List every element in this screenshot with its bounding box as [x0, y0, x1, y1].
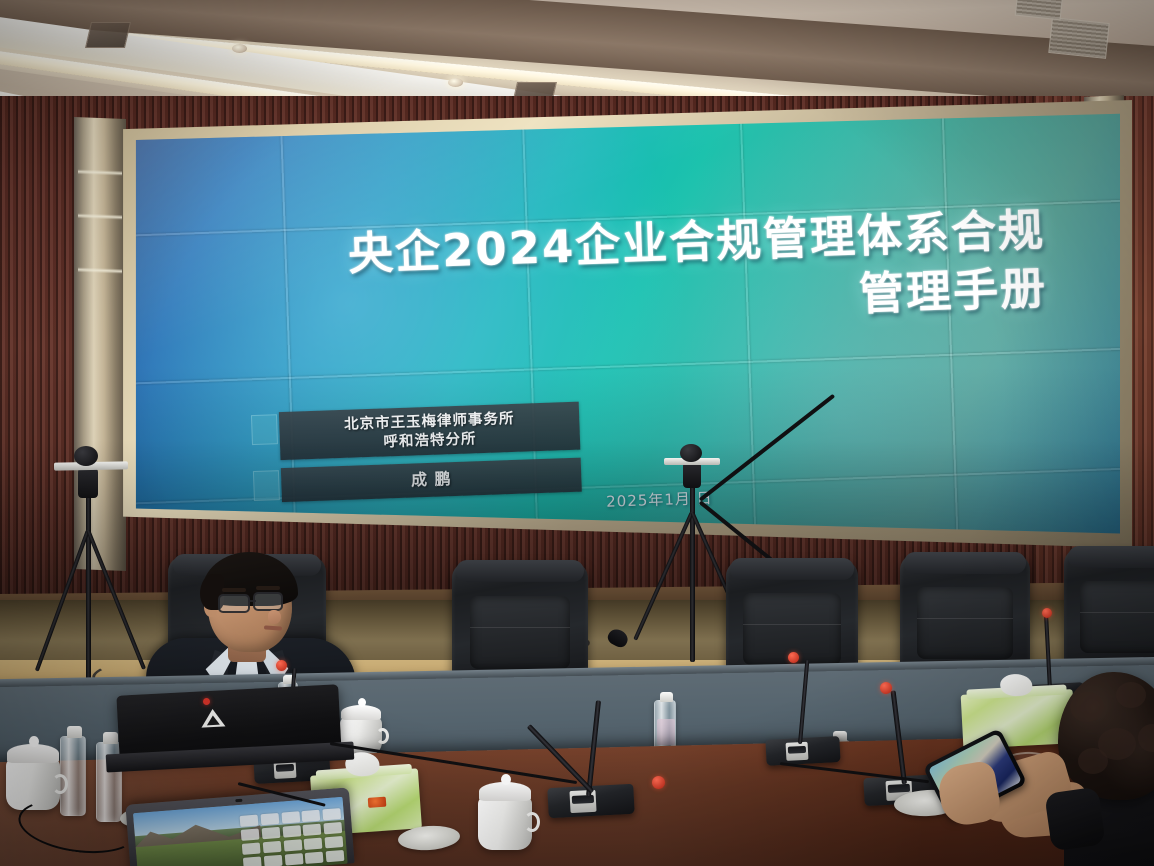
tissue-sheet	[1000, 673, 1033, 697]
desktop-icon[interactable]	[303, 823, 322, 836]
laptop-brand-logo	[197, 705, 228, 731]
desktop-icon[interactable]	[302, 809, 321, 822]
eyeglasses-lens-right	[253, 592, 283, 611]
laptop-webcam	[235, 799, 242, 803]
desktop-icon[interactable]	[263, 841, 282, 854]
mic-indicator-led	[880, 682, 892, 694]
desktop-icon[interactable]	[323, 822, 342, 835]
desktop-icon[interactable]	[241, 828, 260, 841]
desktop-icon[interactable]	[260, 813, 279, 826]
mic-indicator-led	[276, 660, 287, 671]
ceiling-grille	[1015, 0, 1063, 20]
attendee-sleeve	[1044, 787, 1106, 852]
conference-room-photo: 央企2024企业合规管理体系合规 管理手册 北京市王玉梅律师事务所 呼和浩特分所…	[0, 0, 1154, 866]
presenter-nose	[268, 610, 281, 624]
mic-indicator-led	[652, 776, 665, 789]
desktop-icon[interactable]	[283, 839, 302, 852]
eyeglasses-bridge	[248, 600, 256, 602]
camera-on-tripod-left	[74, 446, 98, 466]
laptop-power-led	[203, 698, 210, 705]
desktop-icon[interactable]	[242, 842, 261, 855]
ceiling-spotlight	[232, 44, 247, 53]
camera-on-tripod-center	[680, 444, 702, 462]
slide-title: 央企2024企业合规管理体系合规 管理手册	[214, 201, 1048, 345]
desktop-icon[interactable]	[240, 814, 259, 827]
desktop-icon[interactable]	[304, 837, 323, 850]
presenter-eyebrow-right	[256, 586, 280, 590]
teacup-3[interactable]	[478, 796, 532, 850]
ceiling-spotlight	[448, 78, 463, 87]
presenter-eyebrow-left	[222, 588, 246, 592]
ceiling-grille	[1048, 17, 1109, 59]
tripod-head-center	[683, 462, 701, 488]
eyeglasses-lens-left	[218, 594, 250, 613]
desktop-icon[interactable]	[282, 825, 301, 838]
attendee-hair	[1058, 672, 1154, 800]
ceiling-vent	[85, 22, 131, 48]
tripod-head-left	[78, 468, 98, 498]
attendee-with-phone	[1040, 672, 1154, 866]
tissue-box-logo	[368, 797, 387, 808]
desktop-icon[interactable]	[281, 811, 300, 824]
desktop-icon-grid[interactable]	[240, 808, 345, 866]
desktop-icon[interactable]	[264, 855, 283, 866]
desktop-icon[interactable]	[325, 850, 344, 863]
mic-indicator-led	[788, 652, 799, 663]
desktop-icon[interactable]	[284, 853, 303, 866]
desktop-icon[interactable]	[305, 851, 324, 864]
desktop-icon[interactable]	[322, 808, 341, 821]
desktop-icon[interactable]	[324, 836, 343, 849]
desktop-icon[interactable]	[243, 856, 262, 866]
mic-indicator-led	[1042, 608, 1052, 618]
desktop-icon[interactable]	[261, 827, 280, 840]
